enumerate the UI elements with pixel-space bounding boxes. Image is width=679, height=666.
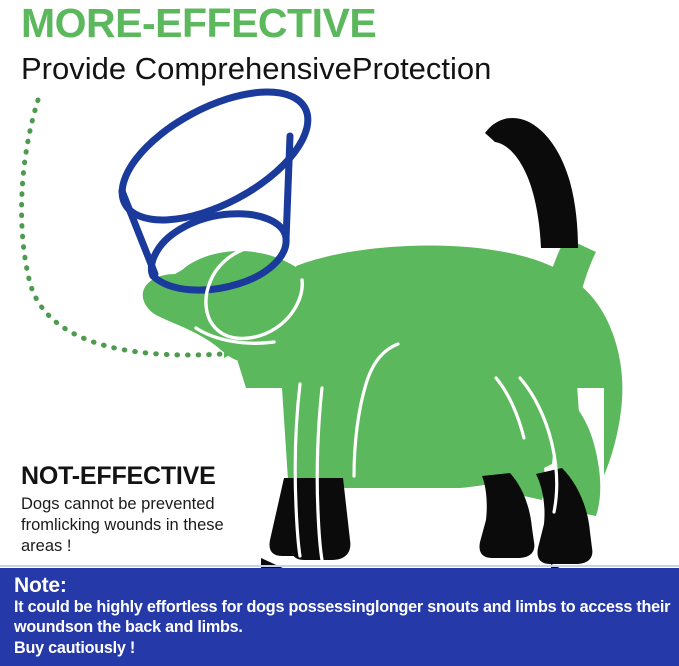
front-paws: [270, 478, 351, 560]
note-line-3: Buy cautiously !: [14, 638, 669, 658]
dog-tail-black-tip: [485, 118, 578, 248]
not-effective-block: NOT-EFFECTIVE Dogs cannot be prevented f…: [21, 462, 257, 557]
not-effective-title: NOT-EFFECTIVE: [21, 462, 257, 491]
not-effective-line-1: Dogs cannot be prevented: [21, 494, 257, 515]
note-banner: Note: It could be highly effortless for …: [0, 568, 679, 666]
note-line-1: It could be highly effortless for dogs p…: [14, 597, 669, 617]
page-subtitle: Provide ComprehensiveProtection: [21, 52, 491, 86]
page-title: MORE-EFFECTIVE: [21, 2, 376, 45]
note-line-2: woundson the back and limbs.: [14, 617, 669, 637]
cone-right-edge: [286, 136, 290, 240]
not-effective-line-2: fromlicking wounds in these: [21, 515, 257, 536]
not-effective-body: Dogs cannot be prevented fromlicking wou…: [21, 494, 257, 557]
note-title: Note:: [14, 575, 669, 597]
section-divider: [0, 565, 679, 567]
cone-left-edge: [122, 191, 155, 274]
not-effective-line-3: areas !: [21, 536, 257, 557]
infographic-root: MORE-EFFECTIVE Provide ComprehensiveProt…: [0, 0, 679, 666]
